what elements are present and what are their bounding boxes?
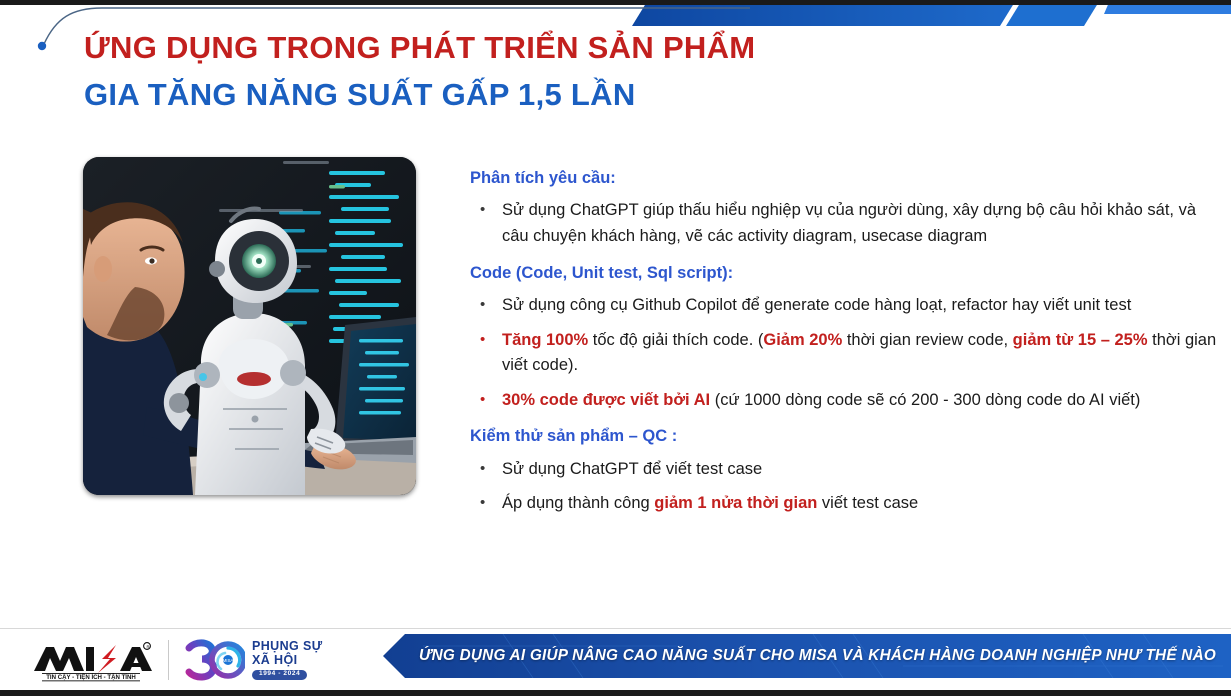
svg-text:R: R <box>146 644 149 649</box>
section-heading: Code (Code, Unit test, Sql script): <box>470 263 1222 284</box>
bullet-marker-icon: • <box>480 198 485 221</box>
section-bullet-list: •Sử dụng ChatGPT để viết test case•Áp dụ… <box>470 457 1222 517</box>
bullet-marker-icon: • <box>480 491 485 514</box>
highlight-text: giảm 1 nửa thời gian <box>654 494 817 512</box>
svg-text:MISA: MISA <box>223 658 234 663</box>
page-title: ỨNG DỤNG TRONG PHÁT TRIỂN SẢN PHẨM GIA T… <box>84 30 755 113</box>
illustration-photo <box>83 157 416 495</box>
section-bullet-list: •Sử dụng ChatGPT giúp thấu hiểu nghiệp v… <box>470 198 1222 249</box>
misa-tagline: TIN CẬY - TIỆN ÍCH - TẬN TÍNH <box>46 673 136 681</box>
body-text: (cứ 1000 dòng code sẽ có 200 - 300 dòng … <box>710 391 1140 409</box>
list-item: •Sử dụng ChatGPT để viết test case <box>470 457 1222 483</box>
letterbox-bottom <box>0 690 1231 696</box>
anniversary-mark-icon: MISA <box>183 638 245 682</box>
body-text: tốc độ giải thích code. ( <box>588 331 763 349</box>
section-bullet-list: •Sử dụng công cụ Github Copilot để gener… <box>470 293 1222 413</box>
body-text: thời gian review code, <box>842 331 1012 349</box>
highlight-text: 30% code được viết bởi AI <box>502 391 710 409</box>
section-heading: Phân tích yêu cầu: <box>470 168 1222 189</box>
body-text: Sử dụng ChatGPT để viết test case <box>502 460 762 478</box>
list-item: •Sử dụng công cụ Github Copilot để gener… <box>470 293 1222 319</box>
footer-divider <box>0 628 1231 629</box>
anniversary-years-badge: 1994 - 2024 <box>252 670 307 680</box>
misa-logo: R TIN CẬY - TIỆN ÍCH - TẬN TÍNH <box>28 637 154 683</box>
body-text: Sử dụng ChatGPT giúp thấu hiểu nghiệp vụ… <box>502 201 1196 245</box>
photo-artwork <box>83 157 416 495</box>
title-line-primary: ỨNG DỤNG TRONG PHÁT TRIỂN SẢN PHẨM <box>84 30 755 65</box>
banner-text: ỨNG DỤNG AI GIÚP NÂNG CAO NĂNG SUẤT CHO … <box>419 634 1223 678</box>
content-column: Phân tích yêu cầu:•Sử dụng ChatGPT giúp … <box>470 168 1222 526</box>
footer-logo-area: R TIN CẬY - TIỆN ÍCH - TẬN TÍNH <box>28 634 323 686</box>
list-item: •Tăng 100% tốc độ giải thích code. (Giảm… <box>470 328 1222 379</box>
highlight-text: Giảm 20% <box>763 331 842 349</box>
bullet-marker-icon: • <box>480 457 485 480</box>
title-line-secondary: GIA TĂNG NĂNG SUẤT GẤP 1,5 LẦN <box>84 77 755 112</box>
letterbox-top <box>0 0 1231 5</box>
anniversary-logo: MISA PHỤNG SỰ XÃ HỘI 1994 - 2024 <box>183 638 323 682</box>
slide-footer: R TIN CẬY - TIỆN ÍCH - TẬN TÍNH <box>0 628 1231 690</box>
footer-logo-divider <box>168 640 169 680</box>
body-text: Sử dụng công cụ Github Copilot để genera… <box>502 296 1131 314</box>
list-item: •Sử dụng ChatGPT giúp thấu hiểu nghiệp v… <box>470 198 1222 249</box>
list-item: •Áp dụng thành công giảm 1 nửa thời gian… <box>470 491 1222 517</box>
bullet-marker-icon: • <box>480 293 485 316</box>
anniversary-text: PHỤNG SỰ XÃ HỘI 1994 - 2024 <box>252 640 323 679</box>
bullet-marker-icon: • <box>480 328 485 351</box>
anniversary-line-1: PHỤNG SỰ <box>252 640 323 653</box>
highlight-text: giảm từ 15 – 25% <box>1013 331 1148 349</box>
anniversary-line-2: XÃ HỘI <box>252 654 323 667</box>
slide-canvas: ỨNG DỤNG TRONG PHÁT TRIỂN SẢN PHẨM GIA T… <box>0 0 1231 696</box>
section-heading: Kiểm thử sản phẩm – QC : <box>470 426 1222 447</box>
bullet-marker-icon: • <box>480 388 485 411</box>
body-text: viết test case <box>817 494 918 512</box>
footer-banner: ỨNG DỤNG AI GIÚP NÂNG CAO NĂNG SUẤT CHO … <box>383 634 1231 678</box>
body-text: Áp dụng thành công <box>502 494 654 512</box>
highlight-text: Tăng 100% <box>502 331 588 349</box>
list-item: •30% code được viết bởi AI (cứ 1000 dòng… <box>470 388 1222 414</box>
